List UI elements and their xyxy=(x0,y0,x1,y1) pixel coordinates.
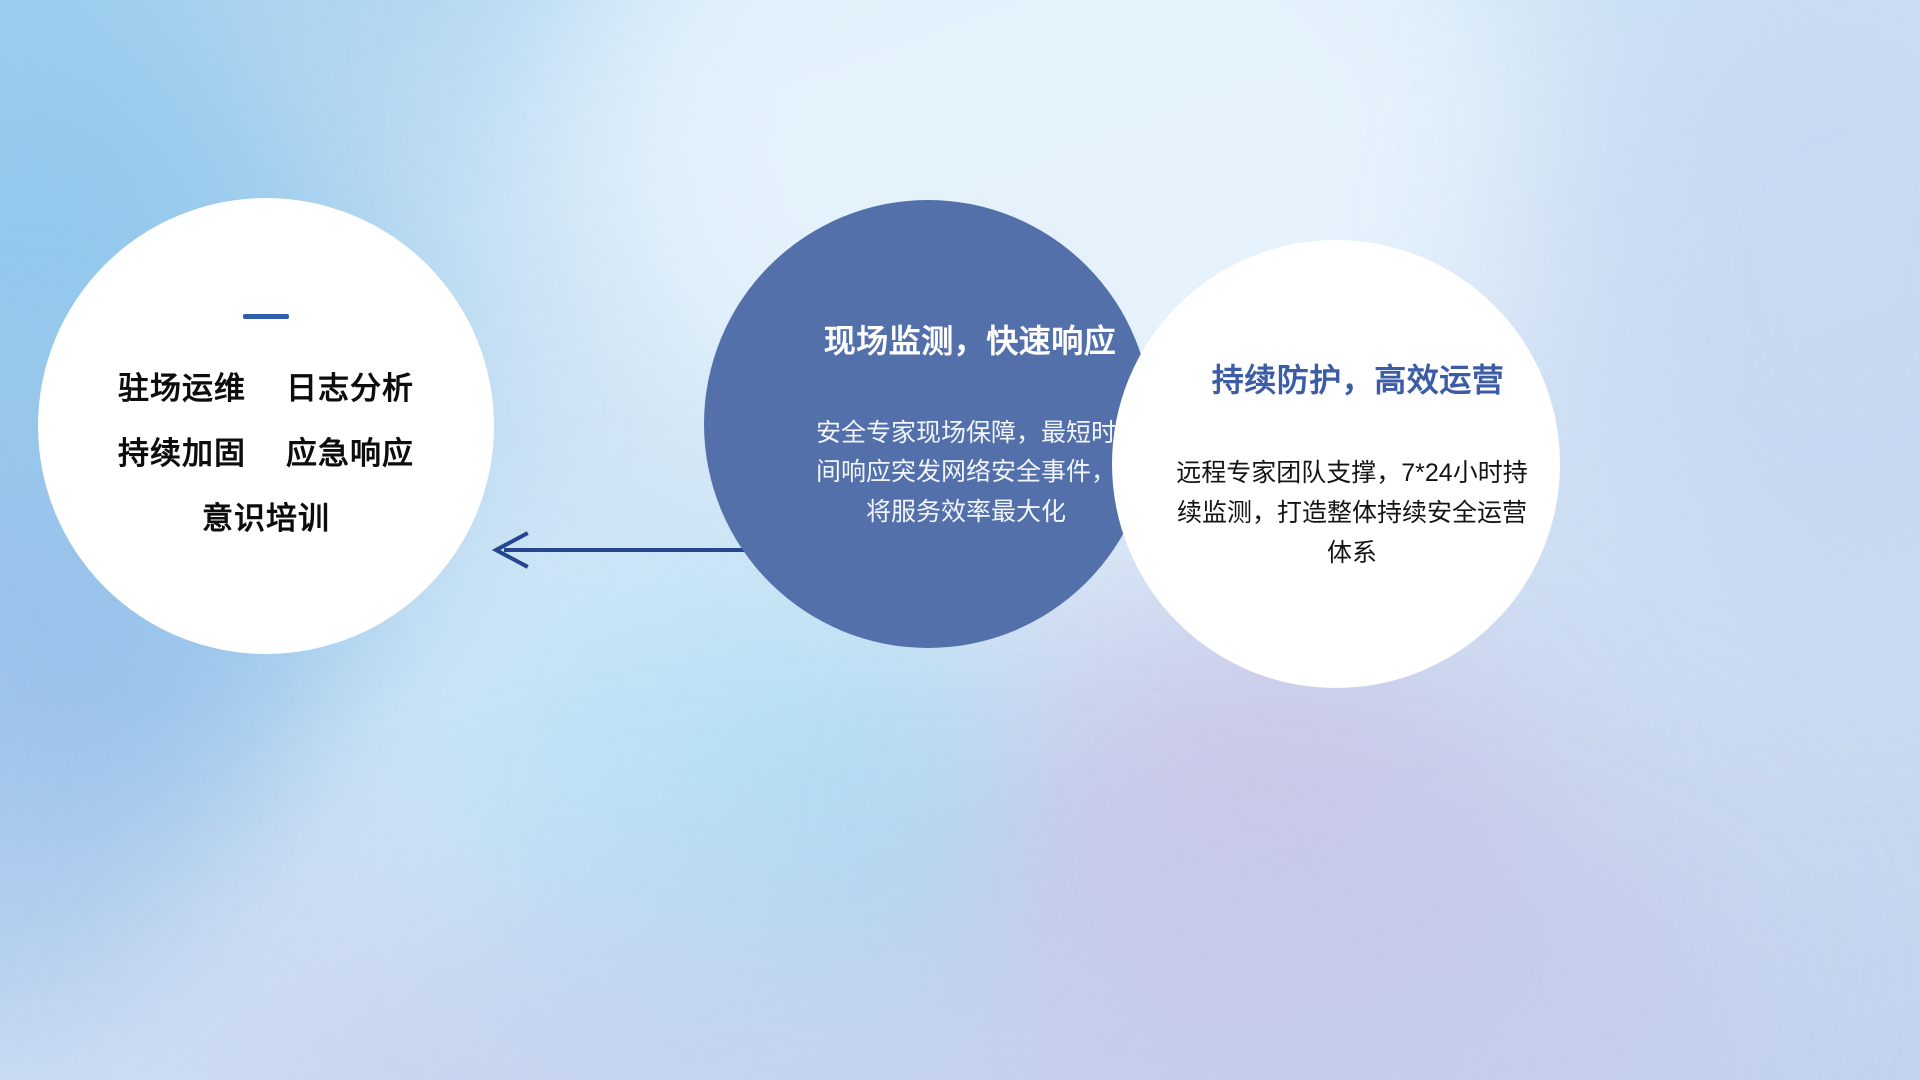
capability-list: 驻场运维 日志分析 持续加固 应急响应 意识培训 xyxy=(118,363,414,538)
continuous-protection-title: 持续防护，高效运营 xyxy=(1212,355,1505,401)
continuous-protection-circle: 持续防护，高效运营 远程专家团队支撑，7*24小时持续监测，打造整体持续安全运营… xyxy=(1112,240,1560,688)
continuous-protection-body: 远程专家团队支撑，7*24小时持续监测，打造整体持续安全运营体系 xyxy=(1166,453,1538,573)
capability-item: 意识培训 xyxy=(202,493,330,538)
capability-row: 驻场运维 日志分析 xyxy=(118,363,414,408)
capability-item: 持续加固 xyxy=(118,428,246,473)
capability-row: 持续加固 应急响应 xyxy=(118,428,414,473)
divider-dash xyxy=(243,314,289,319)
onsite-monitoring-circle: 现场监测，快速响应 安全专家现场保障，最短时间响应突发网络安全事件，将服务效率最… xyxy=(704,200,1152,648)
capability-item: 驻场运维 xyxy=(118,363,246,408)
capability-item: 应急响应 xyxy=(286,428,414,473)
capability-item: 日志分析 xyxy=(286,363,414,408)
onsite-monitoring-body: 安全专家现场保障，最短时间响应突发网络安全事件，将服务效率最大化 xyxy=(816,414,1116,533)
capabilities-circle: 驻场运维 日志分析 持续加固 应急响应 意识培训 xyxy=(38,198,494,654)
capability-row: 意识培训 xyxy=(202,493,330,538)
onsite-monitoring-title: 现场监测，快速响应 xyxy=(824,316,1117,362)
